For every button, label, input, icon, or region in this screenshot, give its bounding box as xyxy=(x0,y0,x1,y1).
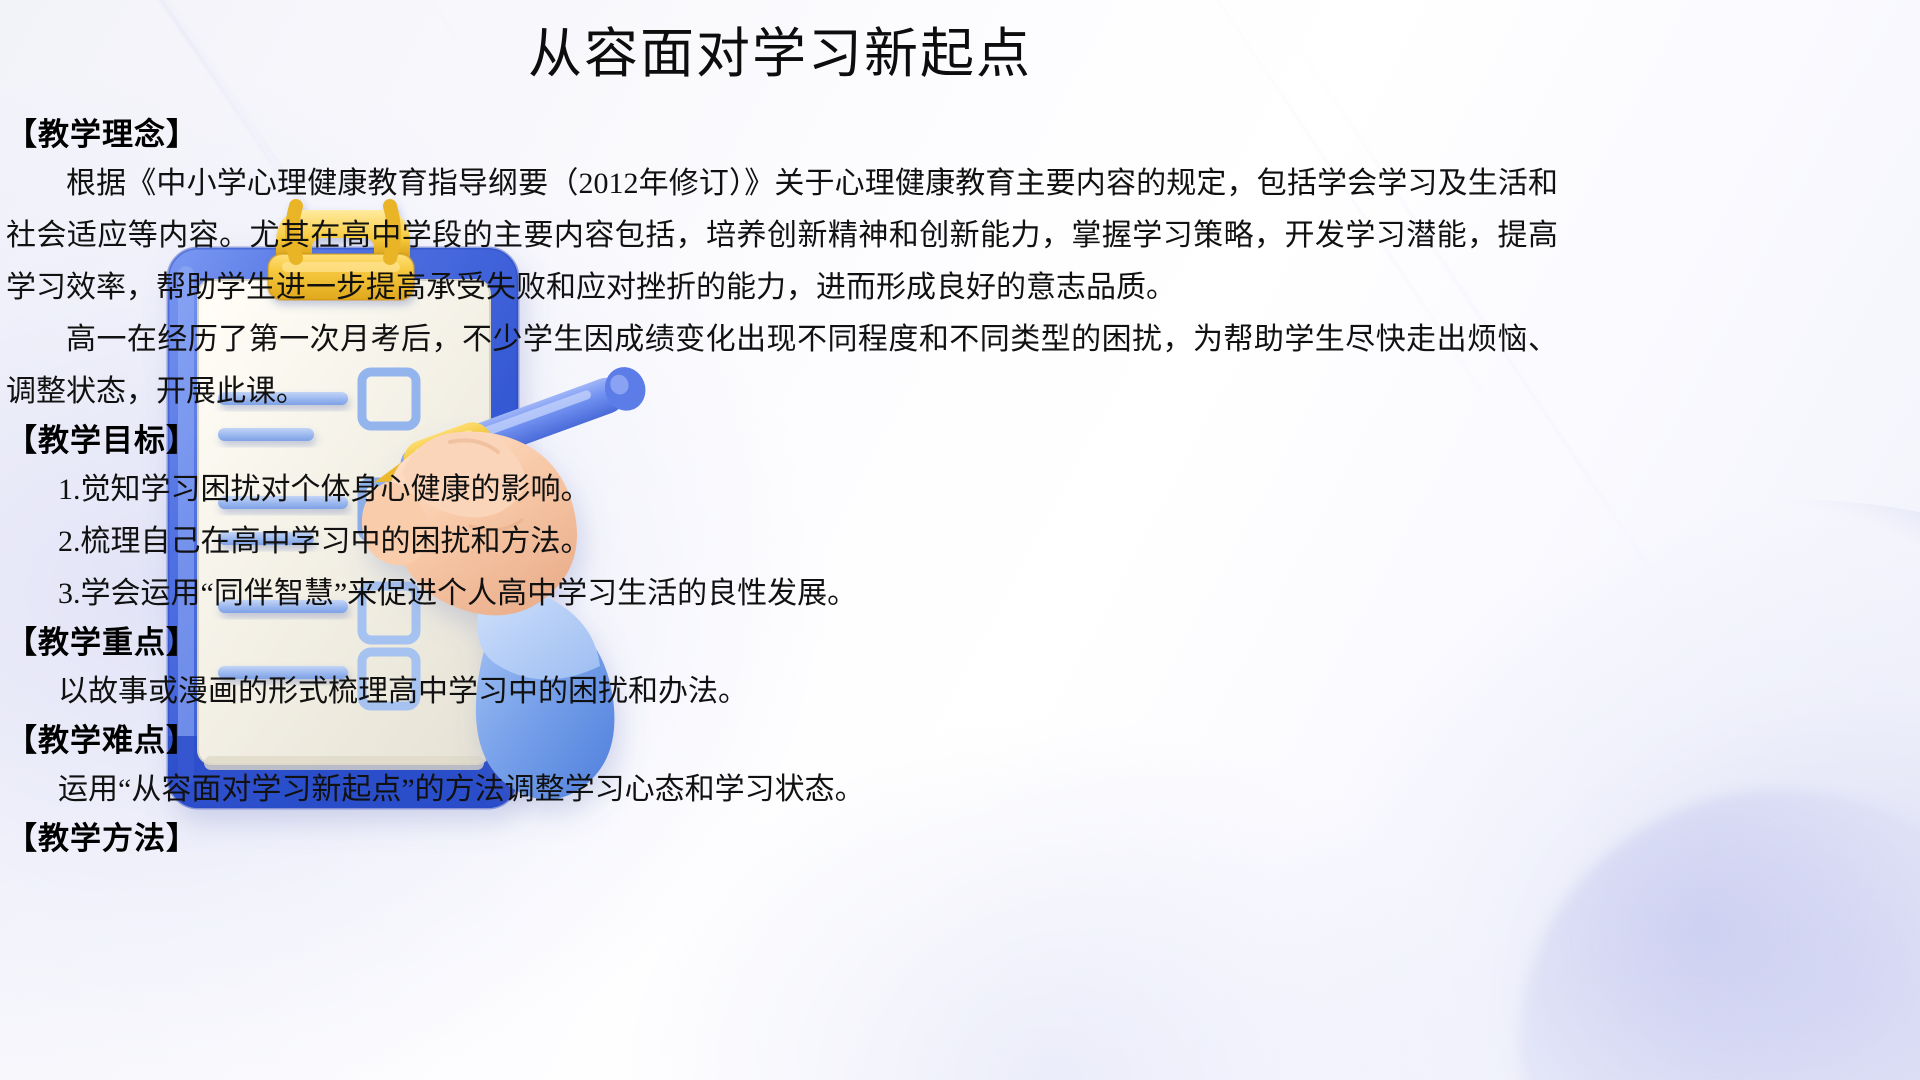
page-title: 从容面对学习新起点 xyxy=(0,22,1560,86)
section-heading-difficult-points: 【教学难点】 xyxy=(6,718,1558,764)
section-heading-objectives: 【教学目标】 xyxy=(6,418,1558,464)
objective-item-3: 3.学会运用“同伴智慧”来促进个人高中学习生活的良性发展。 xyxy=(6,568,1558,620)
philosophy-paragraph-2: 高一在经历了第一次月考后，不少学生因成绩变化出现不同程度和不同类型的困扰，为帮助… xyxy=(6,314,1558,418)
slide-canvas: 从容面对学习新起点 【教学理念】 根据《中小学心理健康教育指导纲要（2012年修… xyxy=(0,0,1920,1080)
objective-item-1: 1.觉知学习困扰对个体身心健康的影响。 xyxy=(6,464,1558,516)
section-heading-methods: 【教学方法】 xyxy=(6,816,1558,862)
difficult-points-line-1: 运用“从容面对学习新起点”的方法调整学习心态和学习状态。 xyxy=(6,764,1558,816)
key-points-line-1: 以故事或漫画的形式梳理高中学习中的困扰和办法。 xyxy=(6,666,1558,718)
body-column: 【教学理念】 根据《中小学心理健康教育指导纲要（2012年修订）》关于心理健康教… xyxy=(6,112,1558,862)
philosophy-paragraph-1: 根据《中小学心理健康教育指导纲要（2012年修订）》关于心理健康教育主要内容的规… xyxy=(6,158,1558,314)
section-heading-key-points: 【教学重点】 xyxy=(6,620,1558,666)
section-heading-philosophy: 【教学理念】 xyxy=(6,112,1558,158)
slide-content: 从容面对学习新起点 【教学理念】 根据《中小学心理健康教育指导纲要（2012年修… xyxy=(0,0,1920,1080)
objective-item-2: 2.梳理自己在高中学习中的困扰和方法。 xyxy=(6,516,1558,568)
